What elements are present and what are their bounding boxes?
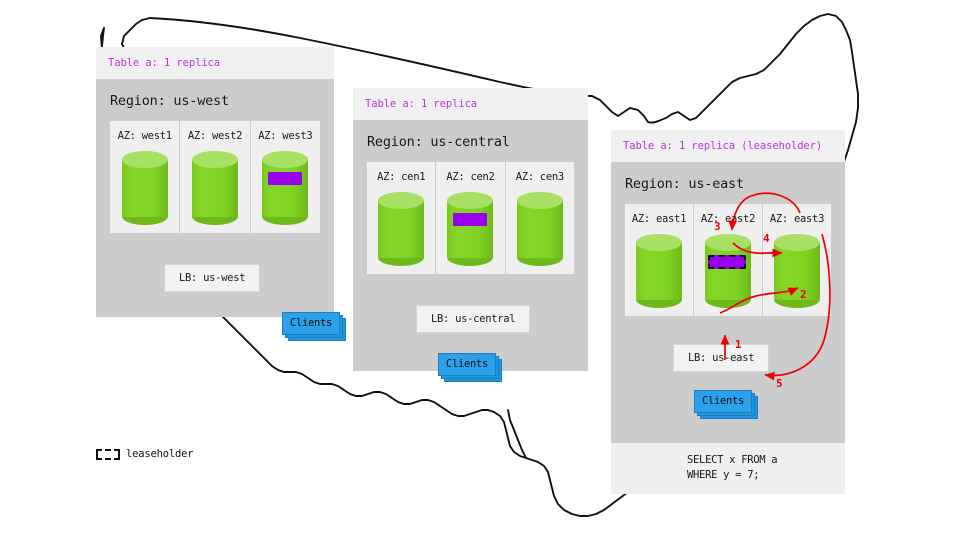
- cylinder-top: [774, 234, 820, 251]
- clients-label: Clients: [282, 312, 340, 335]
- az-cell-west1[interactable]: AZ: west1: [110, 121, 180, 233]
- panel-body-us-central: Region: us-central AZ: cen1 AZ: cen2: [353, 120, 588, 371]
- panel-body-us-west: Region: us-west AZ: west1 AZ: west2: [96, 79, 334, 317]
- cylinder-top: [447, 192, 493, 209]
- legend-label: leaseholder: [126, 448, 193, 460]
- az-cell-west2[interactable]: AZ: west2: [180, 121, 250, 233]
- az-label-cen2: AZ: cen2: [446, 171, 494, 183]
- panel-header-us-west: Table a: 1 replica: [96, 47, 334, 79]
- az-cell-cen2[interactable]: AZ: cen2: [436, 162, 505, 274]
- node-cylinder-cen2[interactable]: [447, 192, 493, 264]
- az-label-east3: AZ: east3: [770, 213, 824, 225]
- az-label-cen1: AZ: cen1: [377, 171, 425, 183]
- diagram-canvas: Table a: 1 replica Region: us-west AZ: w…: [0, 0, 960, 540]
- cylinder-top: [636, 234, 682, 251]
- az-cell-east1[interactable]: AZ: east1: [625, 204, 694, 316]
- az-cell-cen3[interactable]: AZ: cen3: [506, 162, 574, 274]
- clients-us-west[interactable]: Clients: [282, 312, 346, 337]
- az-row-us-central: AZ: cen1 AZ: cen2: [367, 162, 574, 274]
- az-cell-west3[interactable]: AZ: west3: [251, 121, 320, 233]
- az-label-west1: AZ: west1: [118, 130, 172, 142]
- cylinder-top: [705, 234, 751, 251]
- step-number-5: 5: [776, 377, 782, 390]
- legend: leaseholder: [96, 448, 193, 460]
- panel-header-us-central: Table a: 1 replica: [353, 88, 588, 120]
- node-cylinder-east1[interactable]: [636, 234, 682, 306]
- az-cell-east3[interactable]: AZ: east3: [763, 204, 831, 316]
- cylinder-top: [262, 151, 308, 168]
- node-cylinder-cen1[interactable]: [378, 192, 424, 264]
- clients-us-east[interactable]: Clients: [694, 390, 758, 415]
- node-cylinder-west3[interactable]: [262, 151, 308, 223]
- panel-header-us-east: Table a: 1 replica (leaseholder): [611, 130, 845, 162]
- az-cell-cen1[interactable]: AZ: cen1: [367, 162, 436, 274]
- clients-us-central[interactable]: Clients: [438, 353, 502, 378]
- region-panel-us-west: Table a: 1 replica Region: us-west AZ: w…: [96, 47, 334, 317]
- node-cylinder-west1[interactable]: [122, 151, 168, 223]
- cylinder-top: [378, 192, 424, 209]
- region-panel-us-central: Table a: 1 replica Region: us-central AZ…: [353, 88, 588, 371]
- cylinder-top: [517, 192, 563, 209]
- az-row-us-west: AZ: west1 AZ: west2: [110, 121, 320, 233]
- az-label-east2: AZ: east2: [701, 213, 755, 225]
- load-balancer-us-west[interactable]: LB: us-west: [164, 264, 260, 292]
- cylinder-top: [122, 151, 168, 168]
- node-cylinder-east3[interactable]: [774, 234, 820, 306]
- node-cylinder-east2[interactable]: [705, 234, 751, 306]
- az-cell-east2[interactable]: AZ: east2: [694, 204, 763, 316]
- az-label-east1: AZ: east1: [632, 213, 686, 225]
- step-number-4: 4: [763, 232, 769, 245]
- panel-body-us-east: Region: us-east AZ: east1 AZ: east2: [611, 162, 845, 443]
- region-title-us-west: Region: us-west: [96, 79, 334, 121]
- step-number-1: 1: [735, 338, 741, 351]
- node-cylinder-west2[interactable]: [192, 151, 238, 223]
- load-balancer-us-central[interactable]: LB: us-central: [416, 305, 530, 333]
- region-panel-us-east: Table a: 1 replica (leaseholder) Region:…: [611, 130, 845, 494]
- clients-label: Clients: [694, 390, 752, 413]
- region-title-us-central: Region: us-central: [353, 120, 588, 162]
- az-label-west2: AZ: west2: [188, 130, 242, 142]
- replica-bar-leaseholder-east2: [708, 255, 746, 269]
- cylinder-top: [192, 151, 238, 168]
- dashed-rect-icon: [96, 449, 120, 460]
- load-balancer-us-east[interactable]: LB: us-east: [673, 344, 769, 372]
- sql-query-footer: SELECT x FROM a WHERE y = 7;: [611, 443, 845, 494]
- step-number-2: 2: [800, 288, 806, 301]
- az-label-cen3: AZ: cen3: [516, 171, 564, 183]
- step-number-3: 3: [714, 220, 720, 233]
- replica-bar-cen2: [453, 213, 487, 226]
- node-cylinder-cen3[interactable]: [517, 192, 563, 264]
- clients-label: Clients: [438, 353, 496, 376]
- replica-bar-west3: [268, 172, 302, 185]
- region-title-us-east: Region: us-east: [611, 162, 845, 204]
- az-label-west3: AZ: west3: [258, 130, 312, 142]
